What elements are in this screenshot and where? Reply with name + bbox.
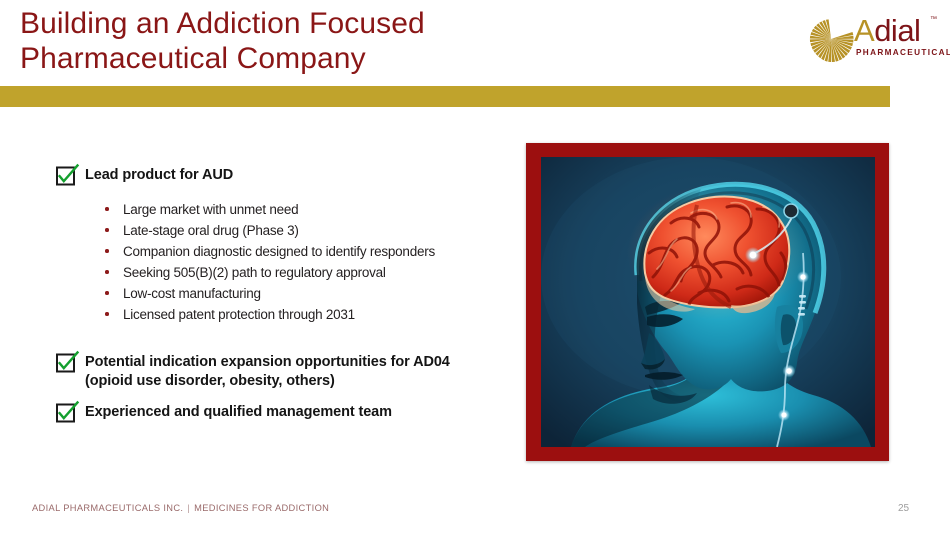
trademark-symbol: ™ xyxy=(930,16,937,23)
logo-subtitle: PHARMACEUTICALS xyxy=(856,48,950,57)
logo-wordmark: Adial ™ PHARMACEUTICALS xyxy=(854,14,944,62)
list-item-label: Seeking 505(B)(2) path to regulatory app… xyxy=(123,265,386,280)
feature-bullet-list: Large market with unmet need Late-stage … xyxy=(103,199,523,325)
check-item-lead-product: Lead product for AUD xyxy=(56,165,233,186)
sunburst-fan-icon xyxy=(808,16,854,62)
gold-accent-bar xyxy=(0,86,890,107)
checkbox-checked-icon xyxy=(56,166,76,186)
list-item: Licensed patent protection through 2031 xyxy=(103,304,523,325)
list-item: Late-stage oral drug (Phase 3) xyxy=(103,220,523,241)
page-title: Building an Addiction Focused Pharmaceut… xyxy=(20,6,660,76)
slide-content: Lead product for AUD Large market with u… xyxy=(0,120,520,450)
list-item-label: Companion diagnostic designed to identif… xyxy=(123,244,435,259)
adial-logo: Adial ™ PHARMACEUTICALS xyxy=(808,12,943,64)
list-item-label: Licensed patent protection through 2031 xyxy=(123,307,355,322)
checkbox-checked-icon xyxy=(56,353,76,373)
bullet-dot-icon xyxy=(105,291,109,295)
logo-name-first: A xyxy=(854,13,874,48)
image-frame xyxy=(526,143,889,461)
human-head-brain-illustration xyxy=(541,157,875,447)
page-number: 25 xyxy=(898,503,909,514)
list-item: Seeking 505(B)(2) path to regulatory app… xyxy=(103,262,523,283)
bullet-dot-icon xyxy=(105,228,109,232)
list-item: Large market with unmet need xyxy=(103,199,523,220)
checkbox-checked-icon xyxy=(56,403,76,423)
footer-company: ADIAL PHARMACEUTICALS INC. xyxy=(32,503,183,513)
list-item: Low-cost manufacturing xyxy=(103,283,523,304)
bullet-dot-icon xyxy=(105,207,109,211)
list-item-label: Large market with unmet need xyxy=(123,202,298,217)
list-item: Companion diagnostic designed to identif… xyxy=(103,241,523,262)
bullet-dot-icon xyxy=(105,312,109,316)
check-item-label: Potential indication expansion opportuni… xyxy=(85,352,450,391)
footer-company-line: ADIAL PHARMACEUTICALS INC.|MEDICINES FOR… xyxy=(32,503,329,513)
check-item-label: Lead product for AUD xyxy=(85,165,233,185)
check-item-indication-expansion: Potential indication expansion opportuni… xyxy=(56,352,526,391)
logo-name: Adial xyxy=(854,14,920,47)
check-item-management-team: Experienced and qualified management tea… xyxy=(56,402,392,423)
bullet-dot-icon xyxy=(105,270,109,274)
footer-separator: | xyxy=(183,503,194,513)
logo-name-rest: dial xyxy=(874,13,920,48)
footer-tagline: MEDICINES FOR ADDICTION xyxy=(194,503,329,513)
bullet-dot-icon xyxy=(105,249,109,253)
check-item-label: Experienced and qualified management tea… xyxy=(85,402,392,422)
list-item-label: Low-cost manufacturing xyxy=(123,286,261,301)
list-item-label: Late-stage oral drug (Phase 3) xyxy=(123,223,299,238)
